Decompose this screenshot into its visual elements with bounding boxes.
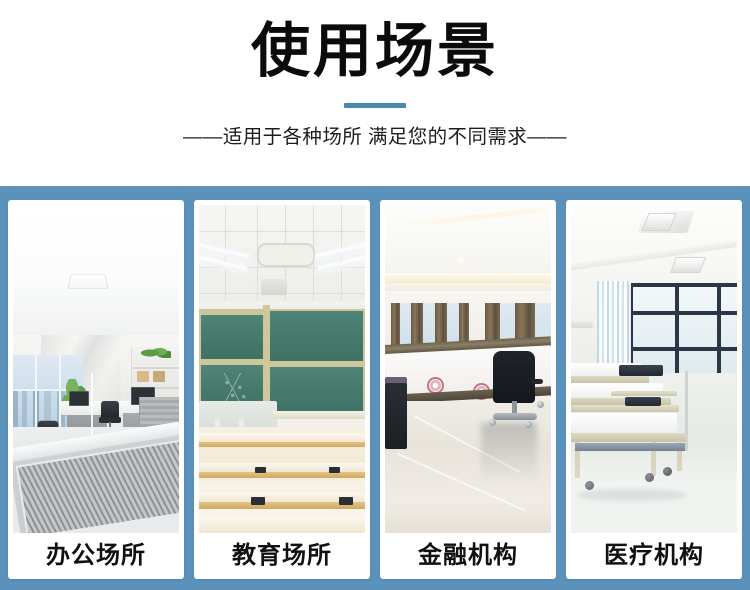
office-window-mullion xyxy=(35,355,37,431)
office-photo xyxy=(13,205,179,533)
classroom-projector xyxy=(261,279,287,295)
desk-clip xyxy=(251,497,265,505)
desk-row-edge xyxy=(199,442,365,447)
office-chair-back xyxy=(101,401,119,418)
page-header: 使用场景 ——适用于各种场所 满足您的不同需求—— xyxy=(0,0,750,186)
window-mullion xyxy=(629,347,737,351)
desk-row-top xyxy=(199,433,365,442)
bed-side-rail xyxy=(571,405,679,412)
chair-base xyxy=(493,413,537,420)
office-shelf-plant xyxy=(141,345,171,361)
bed-frame xyxy=(571,376,649,383)
chalkboard-panel xyxy=(269,367,363,415)
office-shelf-box xyxy=(137,371,149,382)
hospital-iv-stand xyxy=(675,365,709,451)
bed-headboard xyxy=(625,397,661,406)
hospital-floor-gloss xyxy=(571,455,737,533)
ceiling-grid-line xyxy=(199,231,365,232)
bank-window xyxy=(399,303,411,349)
scenario-card-medical[interactable]: 医疗机构 xyxy=(566,200,742,579)
chair-back xyxy=(493,351,535,403)
scenario-label-finance: 金融机构 xyxy=(385,533,551,579)
bed-frame xyxy=(571,433,685,442)
bank-downlight-icon xyxy=(389,229,397,234)
office-ceiling xyxy=(13,205,179,337)
office-monitor xyxy=(69,391,89,406)
chair-armrest xyxy=(531,379,543,384)
desk-clip xyxy=(339,497,353,505)
bank-photo xyxy=(385,205,551,533)
scenario-card-finance[interactable]: 金融机构 xyxy=(380,200,556,579)
scenario-label-medical: 医疗机构 xyxy=(571,533,737,579)
hospital-air-vent-icon xyxy=(670,257,706,273)
chair-caster xyxy=(537,401,544,408)
bed-mattress xyxy=(571,413,677,433)
chalkboard-rail xyxy=(199,359,267,365)
bank-kiosk xyxy=(385,383,407,449)
classroom-ledge xyxy=(273,411,365,419)
office-glass-divider xyxy=(91,373,93,435)
page-subtitle: ——适用于各种场所 满足您的不同需求—— xyxy=(0,108,750,149)
scenario-card-office[interactable]: 办公场所 xyxy=(8,200,184,579)
bank-office-chair xyxy=(491,351,539,427)
office-ceiling-light-panel-far-icon xyxy=(105,318,127,325)
chalkboard-rail xyxy=(267,361,365,367)
chair-caster xyxy=(489,419,496,426)
office-shelf-row xyxy=(133,367,179,369)
window-mullion xyxy=(629,311,737,315)
scenario-card-list: 办公场所 xyxy=(8,200,742,579)
desk-row-top xyxy=(199,463,365,472)
chalkboard-panel xyxy=(269,311,363,361)
bank-downlight-icon xyxy=(457,257,465,262)
scenario-label-office: 办公场所 xyxy=(13,533,179,579)
bed-lower-frame xyxy=(575,443,687,451)
scenario-card-education[interactable]: 教育场所 xyxy=(194,200,370,579)
classroom-photo xyxy=(199,205,365,533)
bed-headboard xyxy=(619,365,663,376)
office-shelf-box xyxy=(153,371,165,382)
hospital-privacy-curtain xyxy=(597,281,631,373)
office-ceiling-light-panel-icon xyxy=(67,275,109,289)
hospital-wall-fixture xyxy=(571,321,593,328)
usage-scenarios-page: 使用场景 ——适用于各种场所 满足您的不同需求—— xyxy=(0,0,750,590)
desk-row-top xyxy=(199,517,365,533)
bed-side-rail xyxy=(611,391,677,396)
bank-cove-light-band xyxy=(385,273,551,283)
iv-stand-pole xyxy=(685,371,688,451)
hospital-photo xyxy=(571,205,737,533)
chair-caster xyxy=(525,421,532,428)
scenario-label-education: 教育场所 xyxy=(199,533,365,579)
page-title: 使用场景 xyxy=(0,0,750,88)
desk-row-edge xyxy=(199,472,365,478)
classroom-ceiling-vent-icon xyxy=(257,243,315,267)
scenario-band: 办公场所 xyxy=(0,186,750,590)
desk-clip xyxy=(329,467,340,473)
window-mullion xyxy=(629,283,737,287)
chalkboard-panel xyxy=(201,315,263,359)
window-mullion xyxy=(717,283,721,377)
bank-floor-reflection xyxy=(481,423,537,483)
desk-clip xyxy=(255,467,266,473)
window-mullion xyxy=(675,283,679,377)
